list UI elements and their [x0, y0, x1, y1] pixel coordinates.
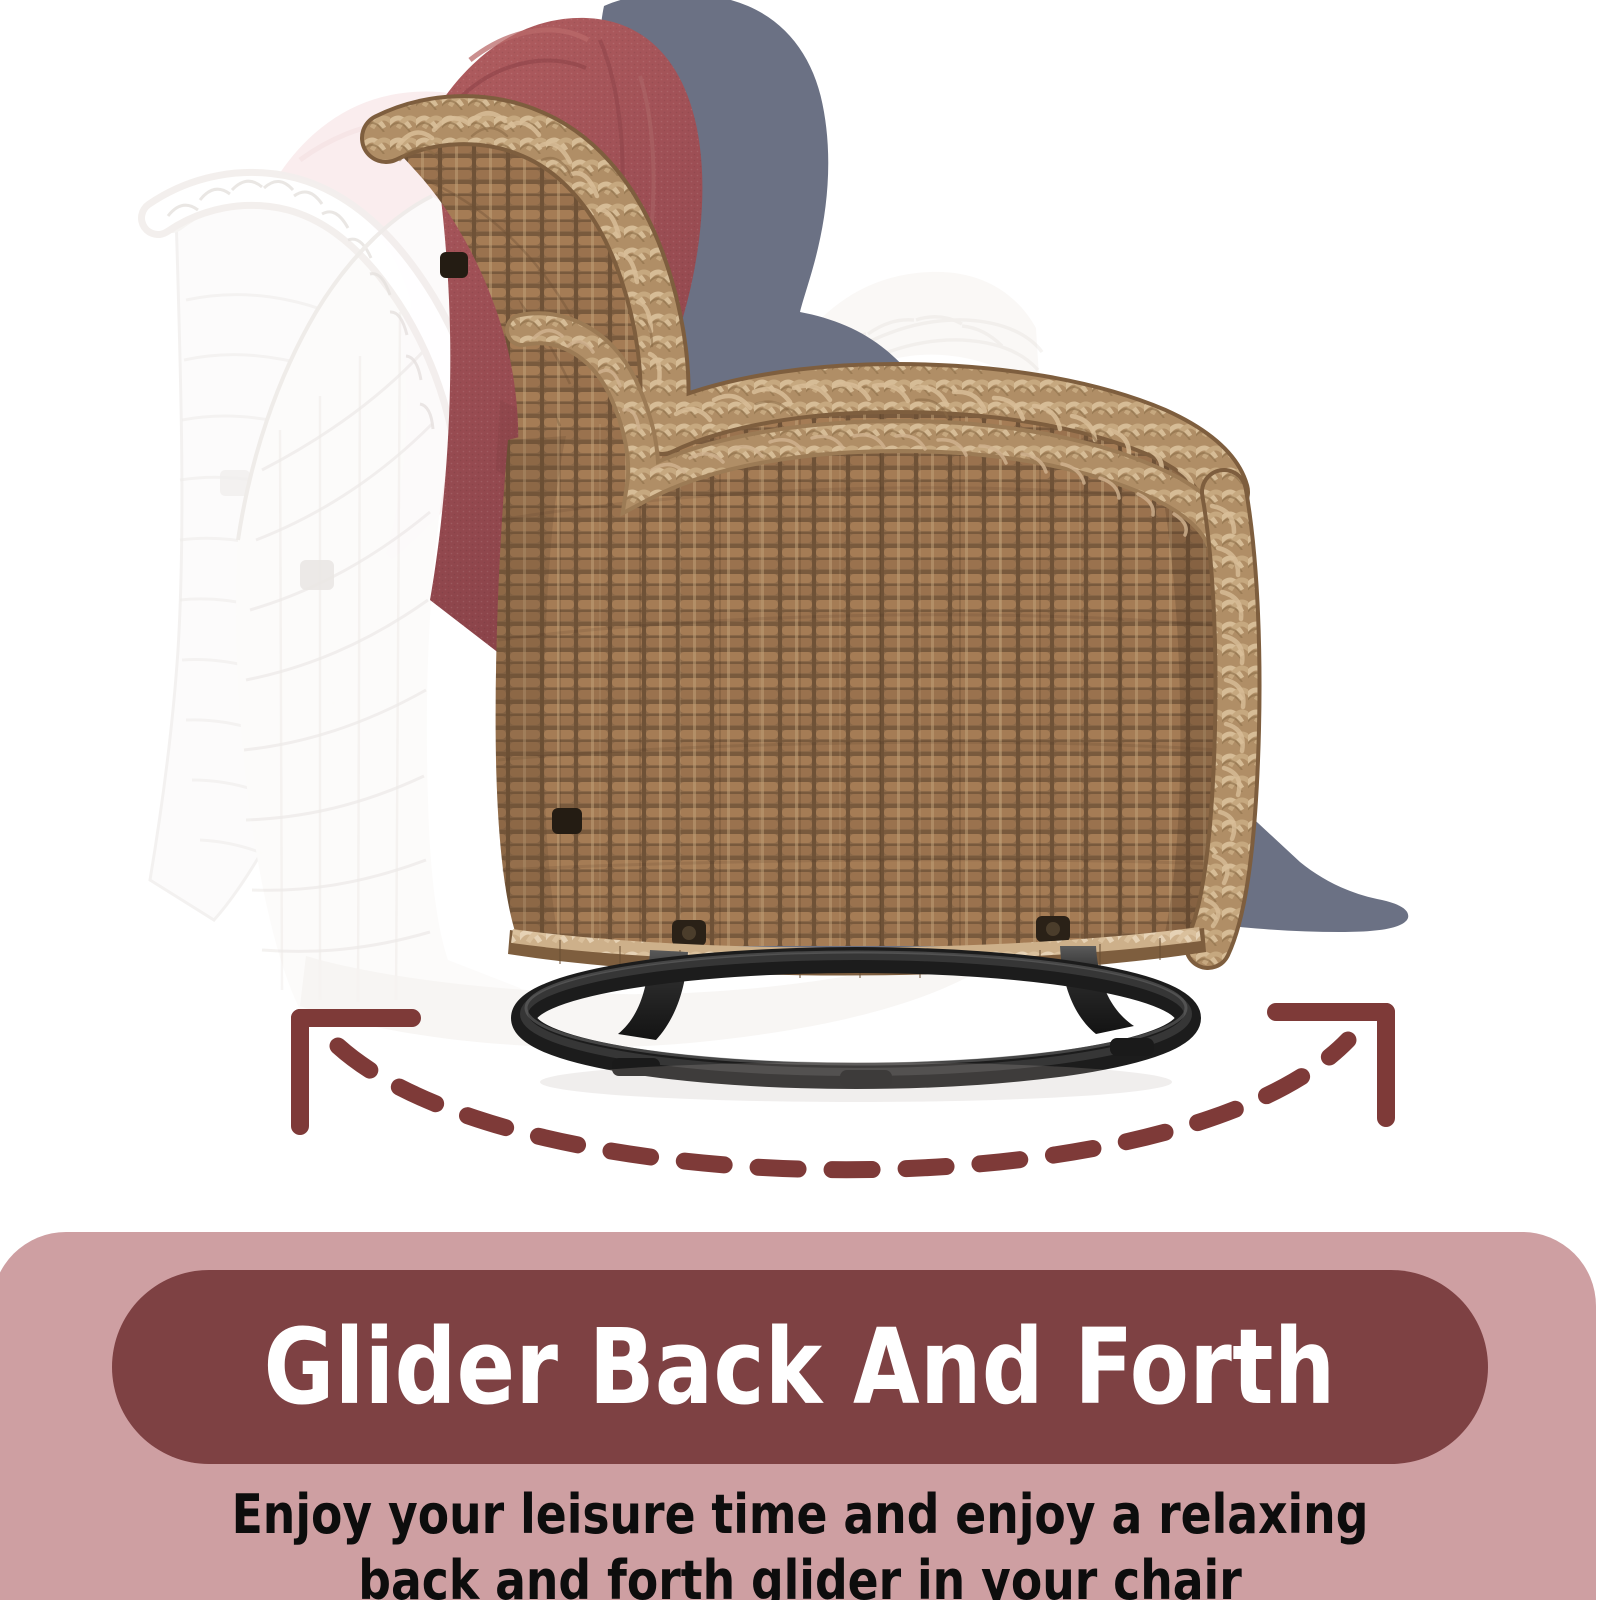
banner-subtitle-line-2: back and forth glider in your chair [48, 1548, 1552, 1600]
product-feature-card: Glider Back And Forth Enjoy your leisure… [0, 0, 1600, 1600]
feature-banner: Glider Back And Forth Enjoy your leisure… [0, 1232, 1600, 1600]
banner-subtitle-line-1: Enjoy your leisure time and enjoy a rela… [48, 1482, 1552, 1548]
product-photo [0, 0, 1600, 1240]
banner-subtitle: Enjoy your leisure time and enjoy a rela… [0, 1482, 1600, 1600]
banner-title: Glider Back And Forth [264, 1315, 1336, 1419]
banner-title-pill: Glider Back And Forth [112, 1270, 1488, 1464]
